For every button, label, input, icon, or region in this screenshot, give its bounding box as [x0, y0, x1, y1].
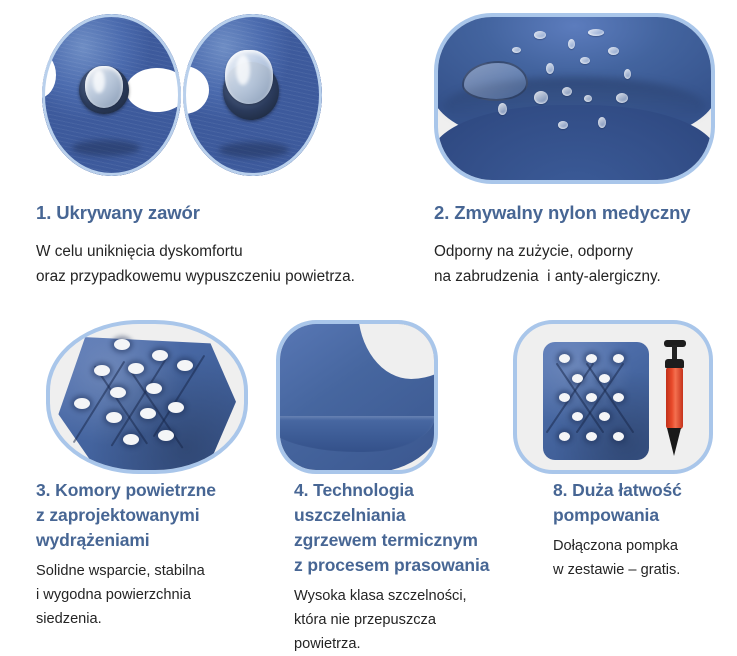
valve-left: [42, 14, 181, 176]
cushion-dimple: [599, 374, 610, 383]
feature-1-title: 1. Ukrywany zawór: [36, 200, 426, 225]
cushion-dimple: [586, 354, 597, 363]
feature-3-title: 3. Komory powietrzne z zaprojektowanymi …: [36, 478, 271, 553]
feature-5-title: 8. Duża łatwość pompowania: [553, 478, 733, 528]
water-droplet: [588, 29, 604, 36]
cushion-dimple: [110, 387, 126, 398]
feature-5-body: Dołączona pompka w zestawie – gratis.: [553, 534, 733, 582]
cushion-dimple: [586, 393, 597, 402]
cushion-dimple: [572, 374, 583, 383]
hidden-valve-photo: [42, 14, 322, 176]
pump-included-photo: [513, 320, 713, 474]
cushion-dimple: [158, 430, 174, 441]
water-droplet: [608, 47, 619, 55]
feature-4-body: Wysoka klasa szczelności, która nie prze…: [294, 584, 524, 656]
feature-3-text: 3. Komory powietrzne z zaprojektowanymi …: [36, 478, 271, 631]
feature-4-text: 4. Technologia uszczelniania zgrzewem te…: [294, 478, 524, 656]
water-droplet: [534, 31, 546, 39]
water-droplet: [512, 47, 521, 53]
nylon-cushion-bottom: [434, 105, 715, 184]
water-droplet: [580, 57, 590, 64]
cushion-dimple: [613, 432, 624, 441]
cushion-dimple: [559, 354, 570, 363]
valve-fold-shadow: [72, 140, 140, 156]
feature-5-text: 8. Duża łatwość pompowania Dołączona pom…: [553, 478, 733, 582]
water-droplet: [534, 91, 548, 104]
cushion-dimple: [586, 432, 597, 441]
feature-4-title: 4. Technologia uszczelniania zgrzewem te…: [294, 478, 524, 578]
cushion-dimple: [106, 412, 122, 423]
cushion-dimple: [146, 383, 162, 394]
water-droplet: [584, 95, 592, 102]
water-droplet: [562, 87, 572, 96]
cushion-dimple: [74, 398, 90, 409]
valve-fold-shadow: [219, 142, 289, 158]
cushion-dimple: [140, 408, 156, 419]
water-droplet: [498, 103, 507, 115]
cushion-dimple: [613, 393, 624, 402]
air-chambers-photo: [46, 320, 248, 474]
feature-2-body: Odporny na zużycie, odporny na zabrudzen…: [434, 239, 734, 289]
valve-right: [183, 14, 322, 176]
cushion-dimple: [559, 393, 570, 402]
water-droplet: [568, 39, 575, 49]
cushion-dimple: [559, 432, 570, 441]
water-droplet: [558, 121, 568, 129]
valve-backdrop-notch: [126, 68, 181, 112]
water-droplet: [598, 117, 606, 128]
cushion-dimple: [128, 363, 144, 374]
feature-2-text: 2. Zmywalny nylon medyczny Odporny na zu…: [434, 200, 734, 289]
cushion-dimple: [152, 350, 168, 361]
feature-2-title: 2. Zmywalny nylon medyczny: [434, 200, 734, 225]
pump-body: [666, 367, 683, 429]
pump-nozzle: [667, 428, 681, 456]
cushion-dimple: [94, 365, 110, 376]
water-droplet-large: [462, 61, 528, 101]
cushion-dimple: [177, 360, 193, 371]
cushion-dimple: [123, 434, 139, 445]
cushion-dimple: [613, 354, 624, 363]
feature-1-text: 1. Ukrywany zawór W celu uniknięcia dysk…: [36, 200, 426, 289]
waterproof-nylon-photo: [434, 13, 715, 184]
valve-plug: [85, 66, 123, 108]
cushion-dimple: [114, 339, 130, 350]
cushion-dimple: [599, 412, 610, 421]
cushion-dimple: [572, 412, 583, 421]
water-droplet: [546, 63, 554, 74]
water-droplet: [624, 69, 631, 79]
thermal-seal-photo: [276, 320, 438, 474]
feature-1-body: W celu uniknięcia dyskomfortu oraz przyp…: [36, 239, 426, 289]
pump-cap: [665, 359, 684, 368]
water-droplet: [616, 93, 628, 103]
feature-3-body: Solidne wsparcie, stabilna i wygodna pow…: [36, 559, 271, 631]
valve-plug: [225, 50, 273, 104]
cushion-dimple: [168, 402, 184, 413]
